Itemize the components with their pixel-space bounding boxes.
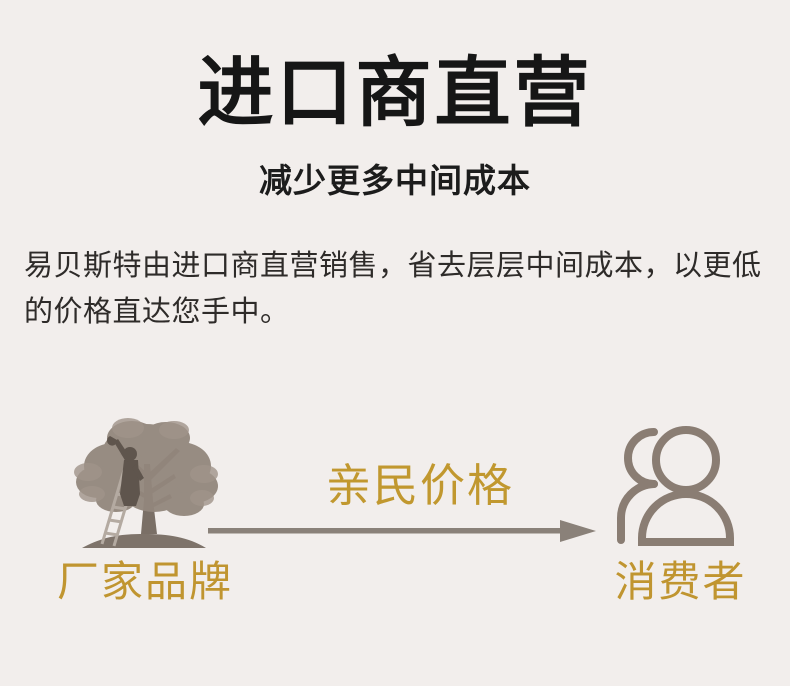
page-subtitle: 减少更多中间成本 <box>0 163 790 203</box>
promo-banner: 进口商直营 减少更多中间成本 易贝斯特由进口商直营销售，省去层层中间成本，以更低… <box>0 0 790 686</box>
manufacturer-brand-label: 厂家品牌 <box>30 558 260 608</box>
right-arrow-icon <box>208 516 598 550</box>
tree-with-ladder-picker-icon <box>58 408 228 560</box>
body-paragraph: 易贝斯特由进口商直营销售，省去层层中间成本，以更低的价格直达您手中。 <box>24 243 769 335</box>
arrow-caption-label: 亲民价格 <box>250 462 590 512</box>
two-people-outline-icon <box>616 420 740 550</box>
consumer-label: 消费者 <box>588 558 773 608</box>
page-title: 进口商直营 <box>0 56 790 134</box>
